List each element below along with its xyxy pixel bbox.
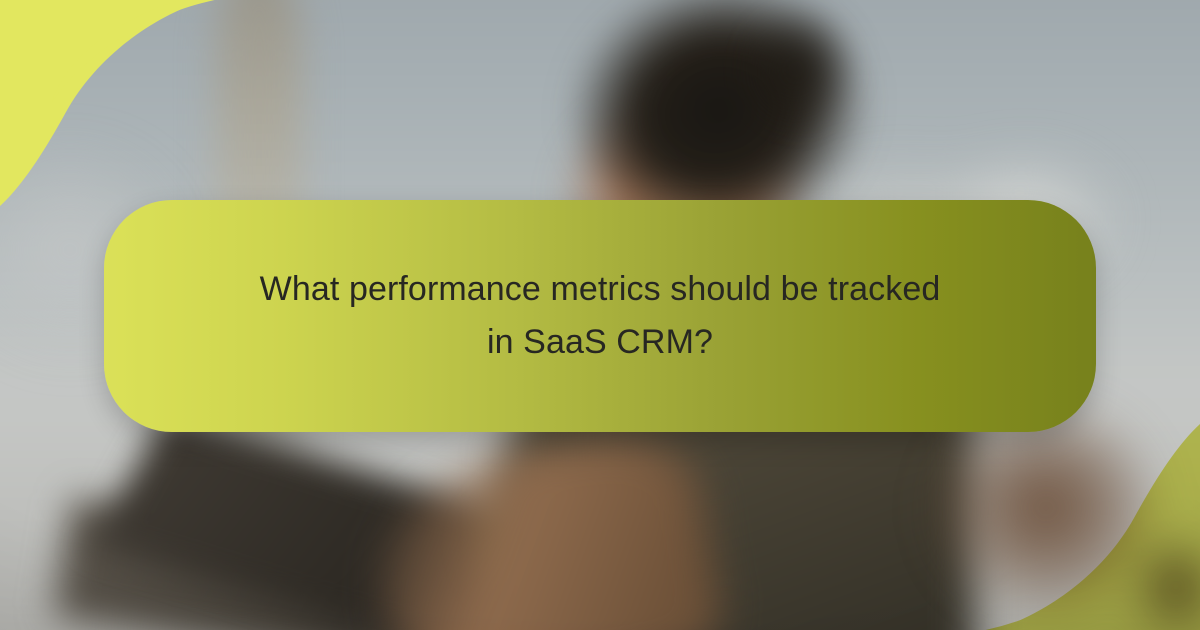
question-card: What performance metrics should be track… [104,200,1096,432]
question-text: What performance metrics should be track… [200,263,1000,368]
share-card-canvas: What performance metrics should be track… [0,0,1200,630]
